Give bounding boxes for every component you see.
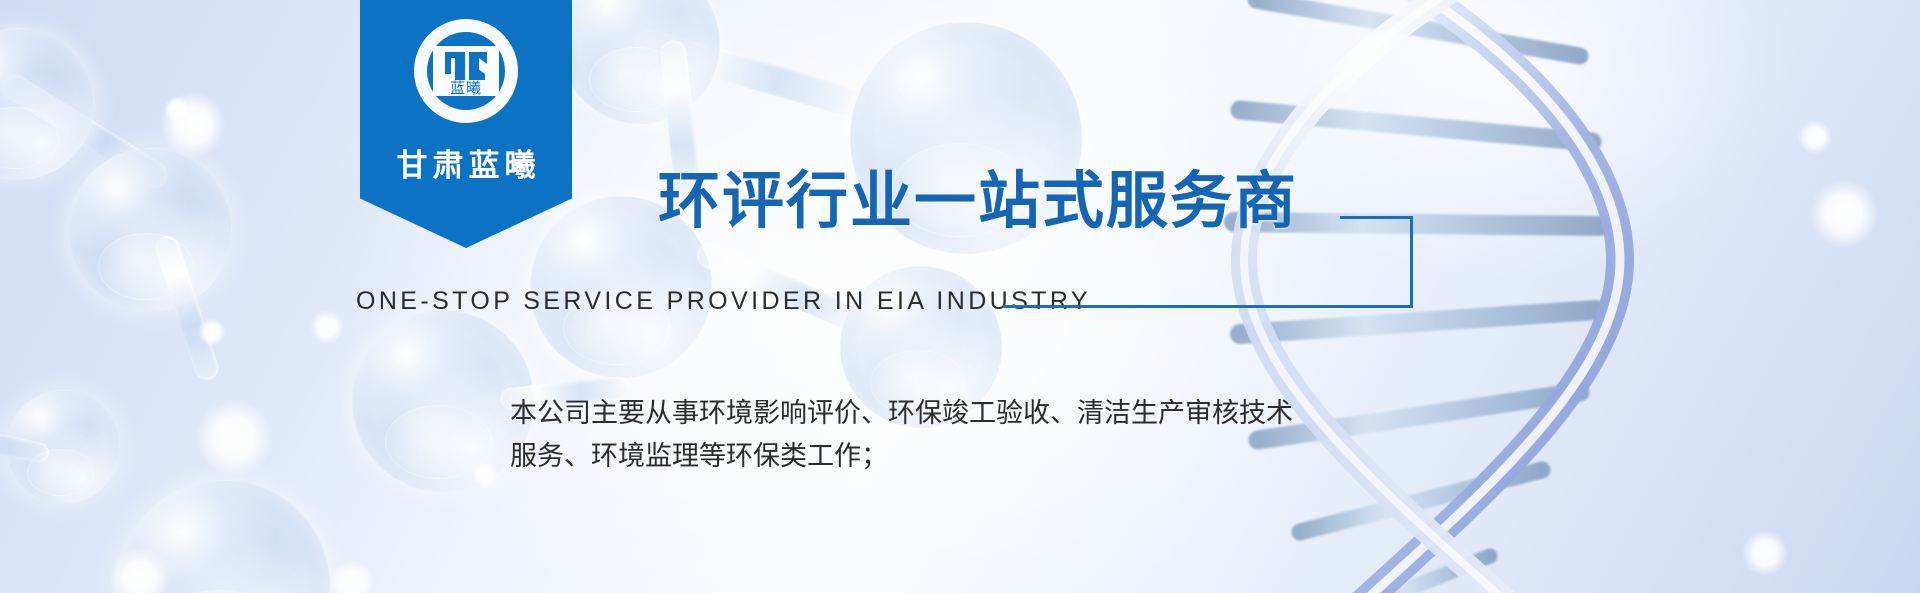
company-description: 本公司主要从事环境影响评价、环保竣工验收、清洁生产审核技术 服务、环境监理等环保… — [510, 392, 1440, 478]
molecule-sphere — [560, 0, 720, 124]
hero-banner: 蓝曦 甘肃蓝曦 环评行业一站式服务商 ONE-STOP SERVICE PROV… — [0, 0, 1920, 593]
description-line: 本公司主要从事环境影响评价、环保竣工验收、清洁生产审核技术 — [510, 392, 1440, 435]
bokeh-dot — [330, 560, 374, 593]
bokeh-dot — [1810, 180, 1878, 248]
bokeh-dot — [1742, 530, 1788, 576]
circular-emblem-icon: 蓝曦 — [409, 14, 523, 128]
company-name: 甘肃蓝曦 — [360, 140, 572, 185]
accent-rule-horizontal — [1003, 305, 1413, 308]
molecule-sphere — [68, 148, 232, 312]
accent-rule-top — [1340, 216, 1413, 219]
company-logo[interactable]: 蓝曦 — [409, 14, 523, 128]
molecule-sphere — [0, 28, 94, 180]
bokeh-dot — [164, 96, 190, 122]
logo-inner-text: 蓝曦 — [450, 79, 482, 97]
page-title: 环评行业一站式服务商 — [658, 150, 1298, 240]
bokeh-dot — [160, 92, 226, 158]
molecule-sphere — [118, 480, 330, 593]
dna-helix-icon — [1150, 0, 1710, 593]
bokeh-dot — [1798, 120, 1832, 154]
page-subtitle: ONE-STOP SERVICE PROVIDER IN EIA INDUSTR… — [356, 287, 1091, 316]
brand-ribbon[interactable]: 蓝曦 甘肃蓝曦 — [360, 0, 572, 248]
accent-rule-vertical — [1410, 216, 1413, 308]
bokeh-dot — [310, 310, 344, 344]
description-line: 服务、环境监理等环保类工作； — [510, 435, 1440, 478]
bokeh-dot — [196, 400, 272, 476]
